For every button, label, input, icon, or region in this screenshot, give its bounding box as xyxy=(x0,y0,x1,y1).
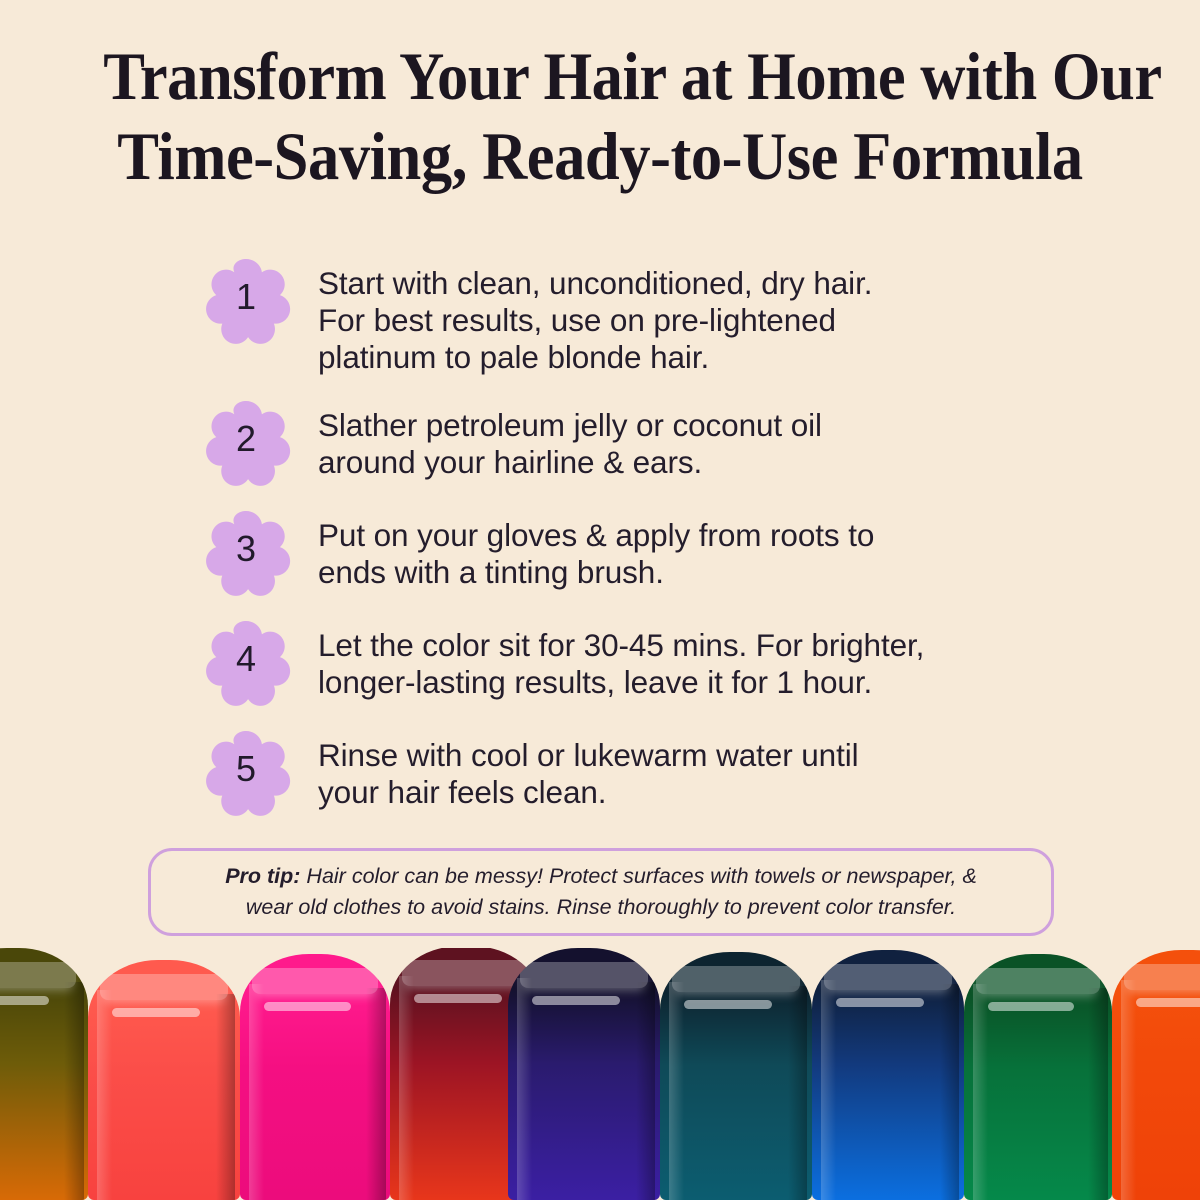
bottle-gloss-streak xyxy=(264,1002,351,1011)
bottle-shadow-right xyxy=(788,986,808,1200)
step-text-line: Put on your gloves & apply from roots to xyxy=(318,517,874,554)
bottle-cap-gloss xyxy=(976,968,1100,994)
dye-bottle-orange xyxy=(1112,950,1200,1200)
bottle-cap-gloss xyxy=(0,962,76,988)
bottle-cap-gloss xyxy=(252,968,378,994)
bottle-highlight-left xyxy=(399,976,414,1200)
bottle-gloss-streak xyxy=(988,1002,1074,1011)
step-number-label: 5 xyxy=(200,724,292,816)
bottle-shadow-right xyxy=(1088,988,1107,1200)
infographic-page: Transform Your Hair at Home with Our Tim… xyxy=(0,0,1200,1200)
bottle-highlight-left xyxy=(97,990,112,1200)
bottle-gloss-streak xyxy=(112,1008,200,1017)
bottle-highlight-left xyxy=(249,984,264,1200)
dye-bottle-green xyxy=(964,954,1112,1200)
step-item: 4Let the color sit for 30-45 mins. For b… xyxy=(200,614,1060,706)
step-text-line: around your hairline & ears. xyxy=(318,444,822,481)
dye-bottle-blue xyxy=(812,950,964,1200)
bottle-cap-gloss xyxy=(402,960,530,986)
dye-bottle-hot-pink xyxy=(240,954,390,1200)
step-number-label: 3 xyxy=(200,504,292,596)
dye-bottle-coral-red xyxy=(88,960,240,1200)
bottle-highlight-left xyxy=(973,984,988,1200)
step-number-label: 1 xyxy=(200,252,292,344)
dye-bottle-teal xyxy=(660,952,812,1200)
bottle-gloss-streak xyxy=(1136,998,1200,1007)
step-number-flower-icon: 4 xyxy=(200,614,292,706)
step-text: Put on your gloves & apply from roots to… xyxy=(318,504,874,591)
bottle-highlight-left xyxy=(1121,980,1136,1200)
bottle-cap-gloss xyxy=(672,966,800,992)
bottle-cap-gloss xyxy=(520,962,648,988)
step-text-line: ends with a tinting brush. xyxy=(318,554,874,591)
pro-tip-box: Pro tip: Hair color can be messy! Protec… xyxy=(148,848,1054,936)
page-title-line-1: Transform Your Hair at Home with Our xyxy=(103,36,1097,116)
step-text-line: platinum to pale blonde hair. xyxy=(318,339,872,376)
bottle-cap-gloss xyxy=(1124,964,1200,990)
step-number-flower-icon: 3 xyxy=(200,504,292,596)
bottle-shadow-right xyxy=(366,988,386,1200)
bottle-highlight-left xyxy=(669,982,684,1200)
step-item: 2Slather petroleum jelly or coconut oila… xyxy=(200,394,1060,486)
bottle-shadow-right xyxy=(940,984,960,1200)
step-text-line: Let the color sit for 30-45 mins. For br… xyxy=(318,627,924,664)
step-text-line: your hair feels clean. xyxy=(318,774,859,811)
bottle-gloss-streak xyxy=(414,994,502,1003)
hair-dye-bottle-strip xyxy=(0,948,1200,1200)
step-text-line: longer-lasting results, leave it for 1 h… xyxy=(318,664,924,701)
step-text: Start with clean, unconditioned, dry hai… xyxy=(318,252,872,376)
step-text-line: Rinse with cool or lukewarm water until xyxy=(318,737,859,774)
bottle-highlight-left xyxy=(517,978,532,1200)
steps-list: 1Start with clean, unconditioned, dry ha… xyxy=(200,252,1060,816)
dye-bottle-purple-navy xyxy=(508,948,660,1200)
bottle-cap-gloss xyxy=(100,974,228,1000)
step-item: 1Start with clean, unconditioned, dry ha… xyxy=(200,252,1060,376)
step-item: 3Put on your gloves & apply from roots t… xyxy=(200,504,1060,596)
step-number-label: 2 xyxy=(200,394,292,486)
step-item: 5Rinse with cool or lukewarm water until… xyxy=(200,724,1060,816)
bottle-gloss-streak xyxy=(836,998,924,1007)
bottle-shadow-right xyxy=(216,994,236,1200)
step-number-flower-icon: 2 xyxy=(200,394,292,486)
pro-tip-label: Pro tip: xyxy=(225,864,300,888)
bottle-highlight-left xyxy=(821,980,836,1200)
step-text-line: For best results, use on pre-lightened xyxy=(318,302,872,339)
bottle-gloss-streak xyxy=(532,996,620,1005)
step-text: Rinse with cool or lukewarm water untily… xyxy=(318,724,859,811)
pro-tip-text-1: Hair color can be messy! Protect surface… xyxy=(306,864,976,888)
pro-tip-line-1: Pro tip: Hair color can be messy! Protec… xyxy=(225,861,977,892)
dye-bottle-olive-yellow xyxy=(0,948,88,1200)
step-number-label: 4 xyxy=(200,614,292,706)
step-text-line: Start with clean, unconditioned, dry hai… xyxy=(318,265,872,302)
bottle-gloss-streak xyxy=(684,1000,772,1009)
step-number-flower-icon: 1 xyxy=(200,252,292,344)
pro-tip-line-2: wear old clothes to avoid stains. Rinse … xyxy=(246,892,956,923)
page-title: Transform Your Hair at Home with Our Tim… xyxy=(103,36,1097,196)
step-text: Slather petroleum jelly or coconut oilar… xyxy=(318,394,822,481)
bottle-cap-gloss xyxy=(824,964,952,990)
bottle-shadow-right xyxy=(636,982,656,1200)
step-number-flower-icon: 5 xyxy=(200,724,292,816)
bottle-shadow-right xyxy=(64,982,84,1200)
step-text-line: Slather petroleum jelly or coconut oil xyxy=(318,407,822,444)
page-title-line-2: Time-Saving, Ready-to-Use Formula xyxy=(103,116,1097,196)
step-text: Let the color sit for 30-45 mins. For br… xyxy=(318,614,924,701)
bottle-gloss-streak xyxy=(0,996,49,1005)
